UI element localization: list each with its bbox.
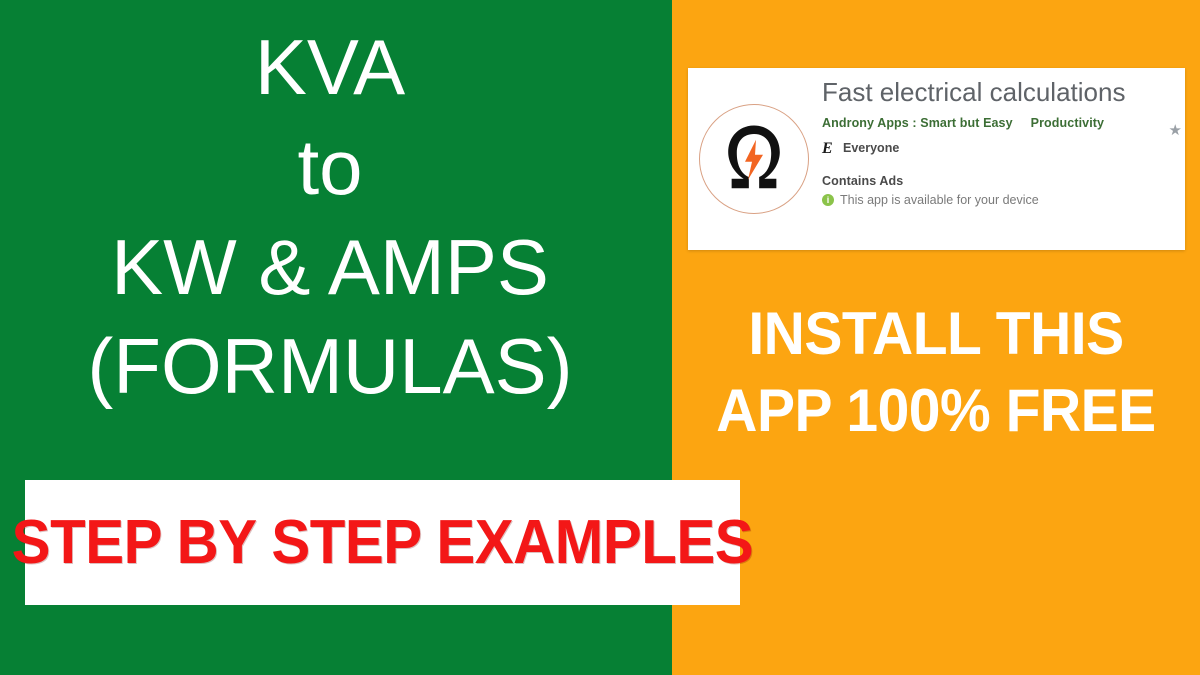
info-icon-letter: i [827,196,830,205]
app-icon-container [688,68,820,250]
cta-line-1: INSTALL THIS [685,296,1187,373]
app-title: Fast electrical calculations [822,78,1185,107]
availability-text: This app is available for your device [840,193,1039,207]
contains-ads-label: Contains Ads [822,174,1185,188]
app-store-card[interactable]: Fast electrical calculations Androny App… [688,68,1185,250]
lightning-bolt-icon [741,140,767,180]
app-developer[interactable]: Androny Apps : Smart but Easy [822,116,1013,130]
banner-text: STEP BY STEP EXAMPLES [12,507,754,578]
cta-line-2: APP 100% FREE [685,373,1187,450]
left-headline: KVA to KW & AMPS (FORMULAS) [0,18,660,417]
app-card-meta: Fast electrical calculations Androny App… [820,68,1185,207]
content-rating-label: Everyone [843,141,899,155]
rating-star-icon: ★ [1169,123,1182,138]
omega-app-icon [699,104,809,214]
install-cta: INSTALL THIS APP 100% FREE [672,296,1200,450]
esrb-letter: E [822,140,832,157]
step-by-step-banner: STEP BY STEP EXAMPLES [25,480,740,605]
headline-line-2: to [0,118,660,218]
thumbnail-canvas: KVA to KW & AMPS (FORMULAS) STEP BY STEP… [0,0,1200,675]
headline-line-4: (FORMULAS) [0,317,660,417]
headline-line-3: KW & AMPS [0,218,660,318]
availability-row: i This app is available for your device [822,193,1185,207]
info-icon: i [822,194,834,206]
app-category[interactable]: Productivity [1031,116,1104,130]
content-rating-row: E Everyone [822,140,1185,156]
app-developer-row: Androny Apps : Smart but Easy Productivi… [822,116,1185,130]
esrb-rating-icon: E [822,140,836,156]
headline-line-1: KVA [0,18,660,118]
